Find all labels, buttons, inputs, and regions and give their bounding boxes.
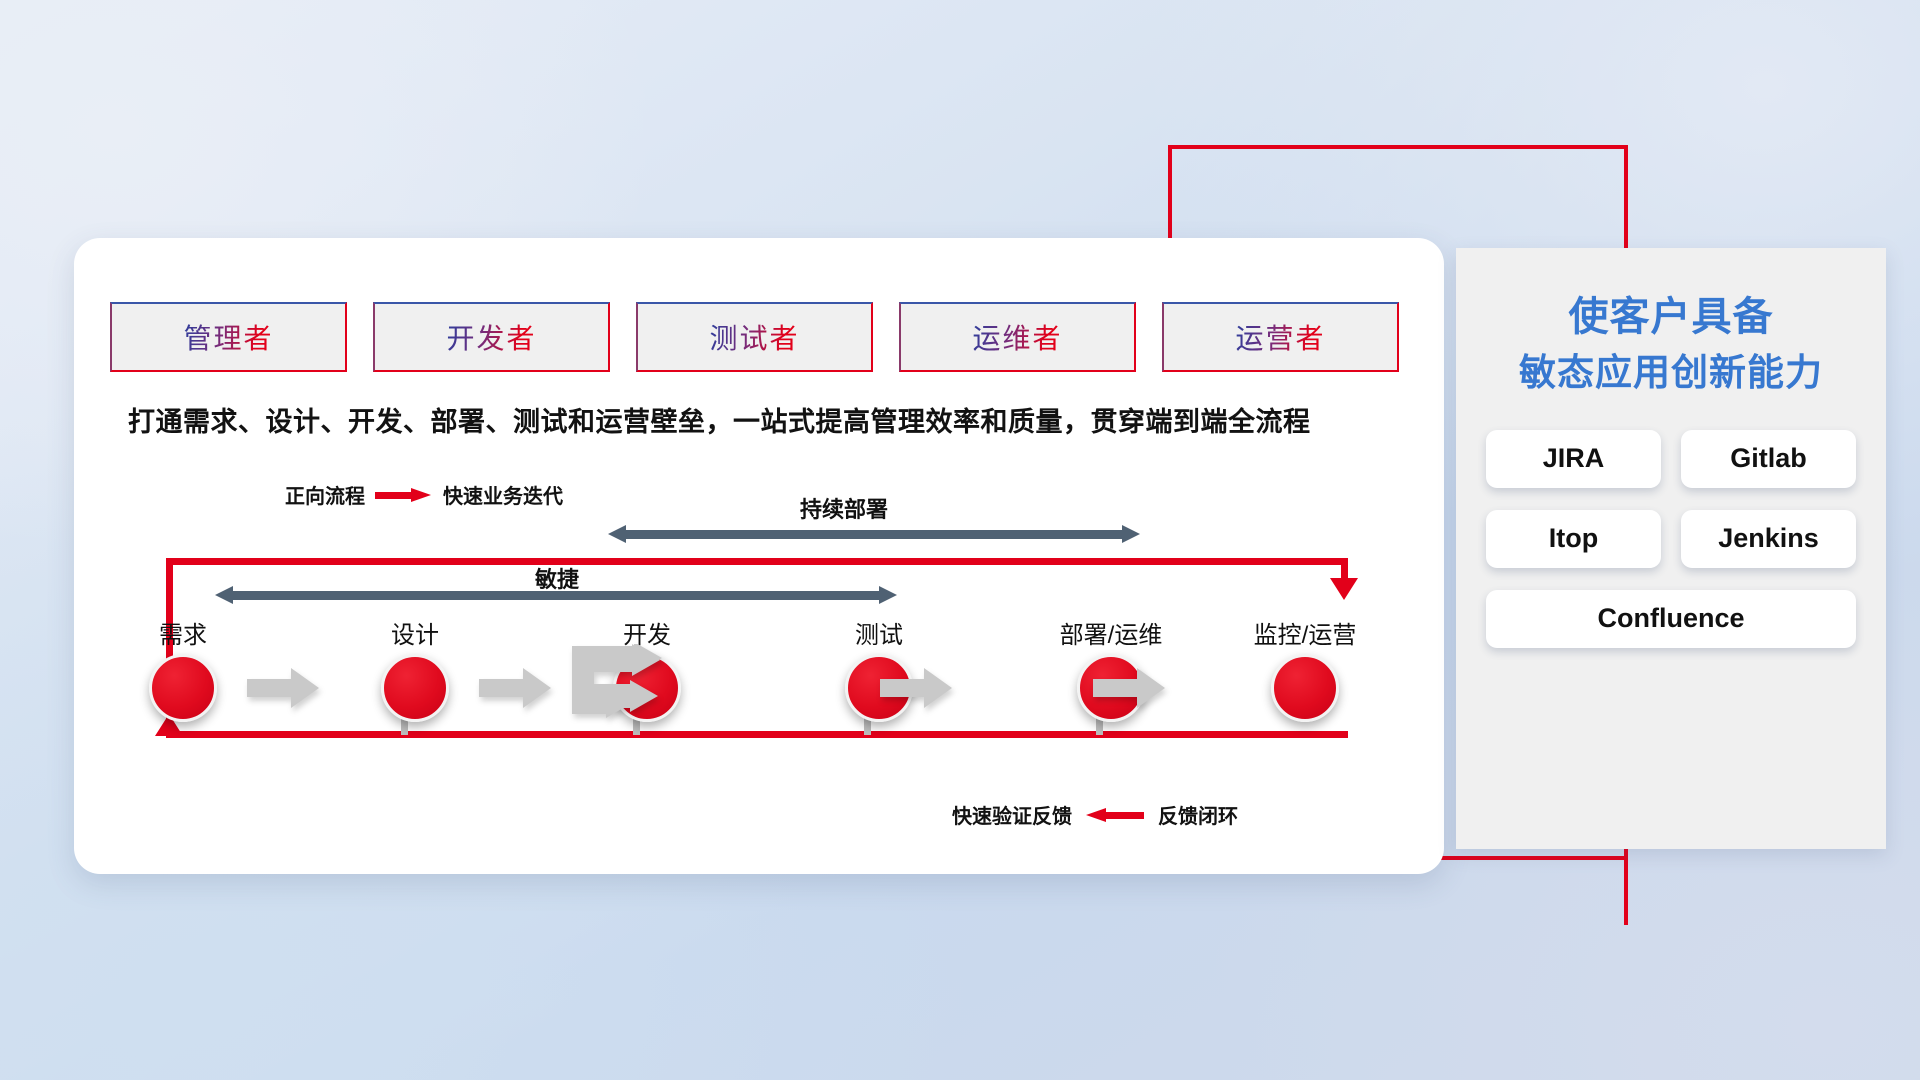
role-chip-tester[interactable]: 测试者	[636, 302, 873, 372]
tool-button-jira[interactable]: JIRA	[1486, 430, 1661, 488]
feedback-loop-bottom	[166, 731, 1348, 738]
chevron-arrow-2-icon	[479, 668, 551, 708]
tool-button-gitlab[interactable]: Gitlab	[1681, 430, 1856, 488]
role-chip-developer[interactable]: 开发者	[373, 302, 610, 372]
feedback-loop-top	[166, 558, 1348, 565]
chevron-arrow-4-icon	[1093, 668, 1165, 708]
feedback-loop-arrow-down-icon	[1330, 578, 1358, 600]
pipeline-node-dot	[1271, 654, 1339, 722]
tool-button-itop[interactable]: Itop	[1486, 510, 1661, 568]
chevron-arrow-3-icon	[880, 668, 952, 708]
role-label: 开发者	[446, 317, 536, 357]
double-arrow-continuous-deploy-icon	[608, 525, 1140, 543]
pipeline-node-dot	[381, 654, 449, 722]
chevron-arrow-1-icon	[247, 668, 319, 708]
panel-title-line2: 敏态应用创新能力	[1456, 346, 1886, 400]
pipeline-node-design[interactable]: 设计	[360, 615, 470, 722]
pipeline-node-label: 需求	[128, 615, 238, 650]
slide-canvas: 管理者 开发者 测试者 运维者 运营者 打通需求、设计、开发、部署、测试和运营壁…	[0, 0, 1920, 1080]
span-label-continuous-deploy: 持续部署	[800, 492, 888, 524]
legend-feedback-loop: 快速验证反馈 反馈闭环	[952, 800, 1238, 829]
role-label: 管理者	[183, 317, 273, 357]
legend-forward-to-label: 快速业务迭代	[443, 480, 563, 509]
pipeline-node-requirements[interactable]: 需求	[128, 615, 238, 722]
value-panel: 使客户具备 敏态应用创新能力 JIRA Gitlab Itop Jenkins …	[1456, 248, 1886, 849]
outer-bracket-top	[1168, 145, 1628, 149]
tool-button-jenkins[interactable]: Jenkins	[1681, 510, 1856, 568]
tool-grid: JIRA Gitlab Itop Jenkins Confluence	[1482, 430, 1860, 648]
role-label: 运维者	[972, 317, 1062, 357]
pipeline-node-monitor-operate[interactable]: 监控/运营	[1220, 615, 1390, 722]
role-label: 运营者	[1235, 317, 1325, 357]
role-chip-operations[interactable]: 运维者	[899, 302, 1136, 372]
pipeline-node-label: 测试	[824, 615, 934, 650]
arrow-right-red-icon	[375, 488, 433, 502]
tool-button-confluence[interactable]: Confluence	[1486, 590, 1856, 648]
panel-title-line1: 使客户具备	[1456, 288, 1886, 346]
rework-loop-arrow-icon	[572, 644, 668, 720]
arrow-left-red-icon	[1086, 808, 1144, 822]
pipeline-node-dot	[149, 654, 217, 722]
legend-forward-flow: 正向流程 快速业务迭代	[285, 480, 563, 509]
pipeline-node-label: 设计	[360, 615, 470, 650]
legend-feedback-from-label: 快速验证反馈	[952, 800, 1072, 829]
legend-forward-from-label: 正向流程	[285, 480, 365, 509]
role-label: 测试者	[709, 317, 799, 357]
role-chip-manager[interactable]: 管理者	[110, 302, 347, 372]
pipeline-node-label: 监控/运营	[1220, 615, 1390, 650]
panel-title: 使客户具备 敏态应用创新能力	[1456, 288, 1886, 400]
double-arrow-agile-icon	[215, 586, 897, 604]
role-chip-business-ops[interactable]: 运营者	[1162, 302, 1399, 372]
headline-text: 打通需求、设计、开发、部署、测试和运营壁垒，一站式提高管理效率和质量，贯穿端到端…	[128, 400, 1398, 439]
legend-feedback-to-label: 反馈闭环	[1158, 800, 1238, 829]
pipeline-node-label: 部署/运维	[1026, 615, 1196, 650]
role-chip-row: 管理者 开发者 测试者 运维者 运营者	[110, 302, 1399, 372]
